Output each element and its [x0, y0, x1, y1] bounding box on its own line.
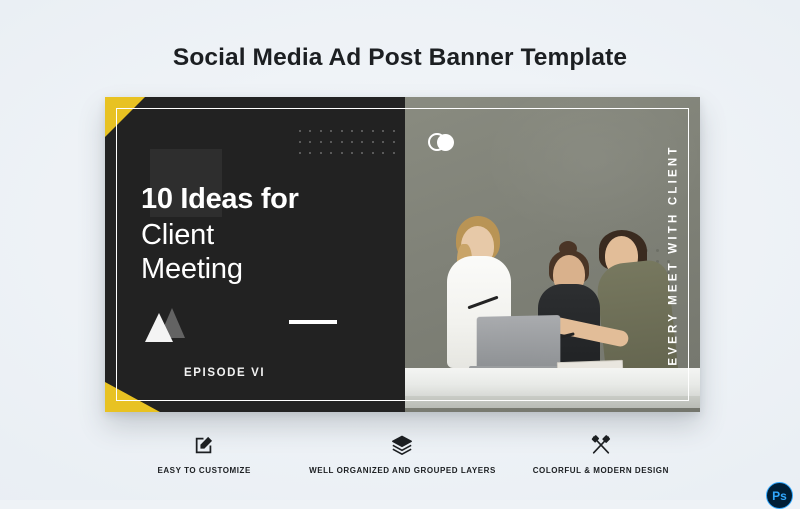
feature-label: COLORFUL & MODERN DESIGN — [502, 465, 700, 476]
page-title: Social Media Ad Post Banner Template — [0, 44, 800, 72]
banner-preview[interactable]: 10 Ideas for Client Meeting EPISODE VI — [105, 97, 700, 412]
table-surface — [405, 368, 700, 398]
banner-vertical-text: EVERY MEET WITH CLIENT — [662, 97, 686, 412]
table-edge — [405, 396, 700, 408]
feature-item-easy-to-customize: EASY TO CUSTOMIZE — [105, 432, 303, 476]
episode-label: EPISODE VI — [184, 367, 265, 379]
headline-line-2: Client — [141, 221, 299, 250]
feature-label: EASY TO CUSTOMIZE — [105, 465, 303, 476]
feature-label: WELL ORGANIZED AND GROUPED LAYERS — [303, 465, 501, 476]
triangle-logo-icon — [145, 308, 185, 342]
laptop-screen — [477, 315, 561, 369]
dot-grid-pattern — [299, 130, 403, 163]
yellow-corner-triangle-bottom-left — [105, 382, 160, 412]
banner-vertical-text-label: EVERY MEET WITH CLIENT — [668, 144, 680, 365]
edit-square-icon — [105, 432, 303, 458]
feature-list: EASY TO CUSTOMIZE WELL ORGANIZED AND GRO… — [105, 432, 700, 476]
headline-line-3: Meeting — [141, 255, 299, 284]
overlapping-circles-icon — [428, 133, 458, 153]
feature-item-colorful-modern-design: COLORFUL & MODERN DESIGN — [502, 432, 700, 476]
layers-icon — [303, 432, 501, 458]
yellow-corner-triangle-top-left — [105, 97, 145, 137]
pencil-ruler-icon — [502, 432, 700, 458]
banner-headline: 10 Ideas for Client Meeting — [141, 185, 299, 289]
headline-line-1: 10 Ideas for — [141, 185, 299, 214]
banner-right-panel: EVERY MEET WITH CLIENT — [405, 97, 700, 412]
feature-item-well-organized-layers: WELL ORGANIZED AND GROUPED LAYERS — [303, 432, 501, 476]
dash-divider — [289, 320, 337, 324]
photoshop-badge: Ps — [766, 482, 793, 509]
banner-left-panel: 10 Ideas for Client Meeting EPISODE VI — [105, 97, 405, 412]
